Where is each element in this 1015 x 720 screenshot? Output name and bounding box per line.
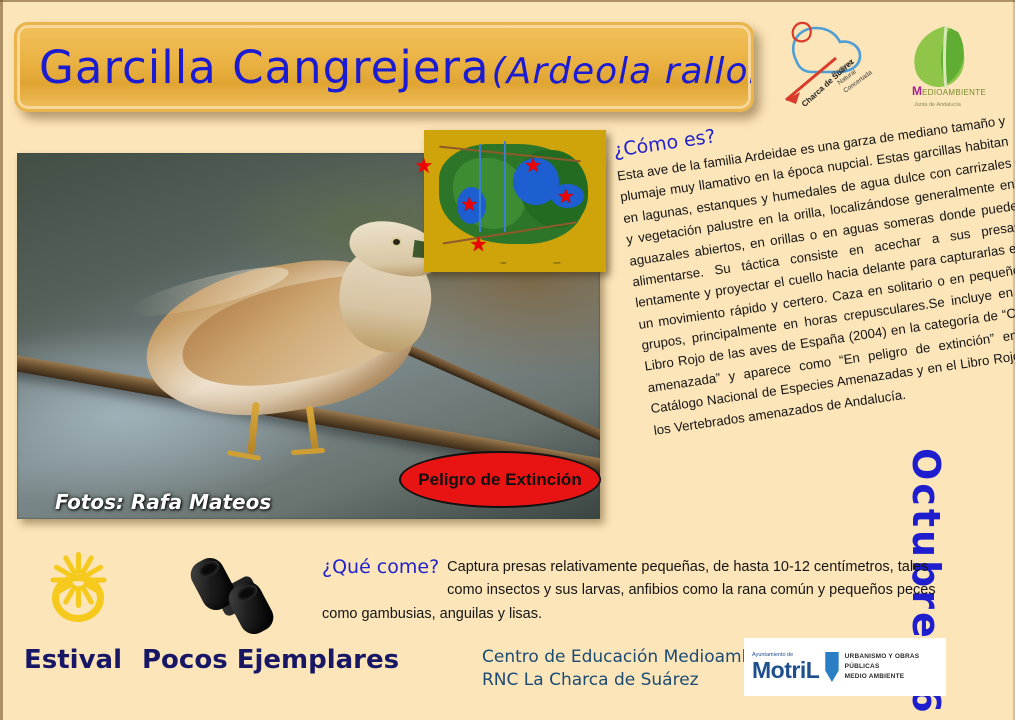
poster-root: Garcilla Cangrejera(Ardeola ralloides) C… [0,0,1015,720]
map-legend-column: ▪▪▪▪▪ [500,261,549,266]
motril-wordmark: Ayuntamiento de MotriL [752,653,819,680]
map-legend: ▪▪▪▪▪ ▪▪▪▪▪▪ [500,261,602,266]
poster-edge-left [0,0,3,720]
map-marker-star-icon: ★ [460,195,478,215]
description-body: Esta ave de la familia Ardeidae es una g… [616,110,1015,441]
charca-de-suarez-logo: Charca de Suárez ReservaNaturalConcertad… [778,14,876,114]
motril-department: URBANISMO Y OBRAS PÚBLICAS MEDIO AMBIENT… [845,652,938,681]
description-block: ¿Cómo es? Esta ave de la familia Ardeida… [612,84,1015,441]
map-channel [504,141,506,232]
sun-ray [76,586,81,608]
poster-edge-top [0,0,1015,2]
status-badge-extinction: Peligro de Extinción [399,451,601,508]
species-common-name: Garcilla Cangrejera [39,41,490,94]
map-marker-star-icon: ★ [414,155,434,177]
season-label: Estival [24,645,122,675]
map-marker-star-icon: ★ [524,156,542,176]
species-scientific-name: (Ardeola ralloides) [492,51,754,92]
diet-block: ¿Qué come? Captura presas relativamente … [322,556,940,626]
photo-credit: Fotos: Rafa Mateos [55,490,271,514]
motril-name: MotriL [752,660,819,681]
motril-department-line-2: MEDIO AMBIENTE [845,672,938,682]
binoculars-icon [190,556,294,644]
sun-ray [51,578,73,583]
reserve-map-inset: ★ ★ ★ ★ ▪▪▪▪▪ ▪▪▪▪▪▪ [424,130,606,272]
title-banner: Garcilla Cangrejera(Ardeola ralloides) [14,22,754,112]
abundance-label: Pocos Ejemplares [142,645,399,675]
map-legend-column: ▪▪▪▪▪▪ [553,261,602,266]
map-marker-star-icon: ★ [470,235,488,255]
map-channel [479,144,481,232]
sun-icon [22,552,142,648]
diet-heading: ¿Qué come? [322,556,439,580]
map-marker-star-icon: ★ [557,187,575,207]
motril-department-line-1: URBANISMO Y OBRAS PÚBLICAS [845,652,938,672]
motril-shield-icon [825,652,838,682]
page-title: Garcilla Cangrejera(Ardeola ralloides) [17,45,754,90]
motril-logo: Ayuntamiento de MotriL URBANISMO Y OBRAS… [744,638,946,696]
bird-eye [393,239,400,245]
